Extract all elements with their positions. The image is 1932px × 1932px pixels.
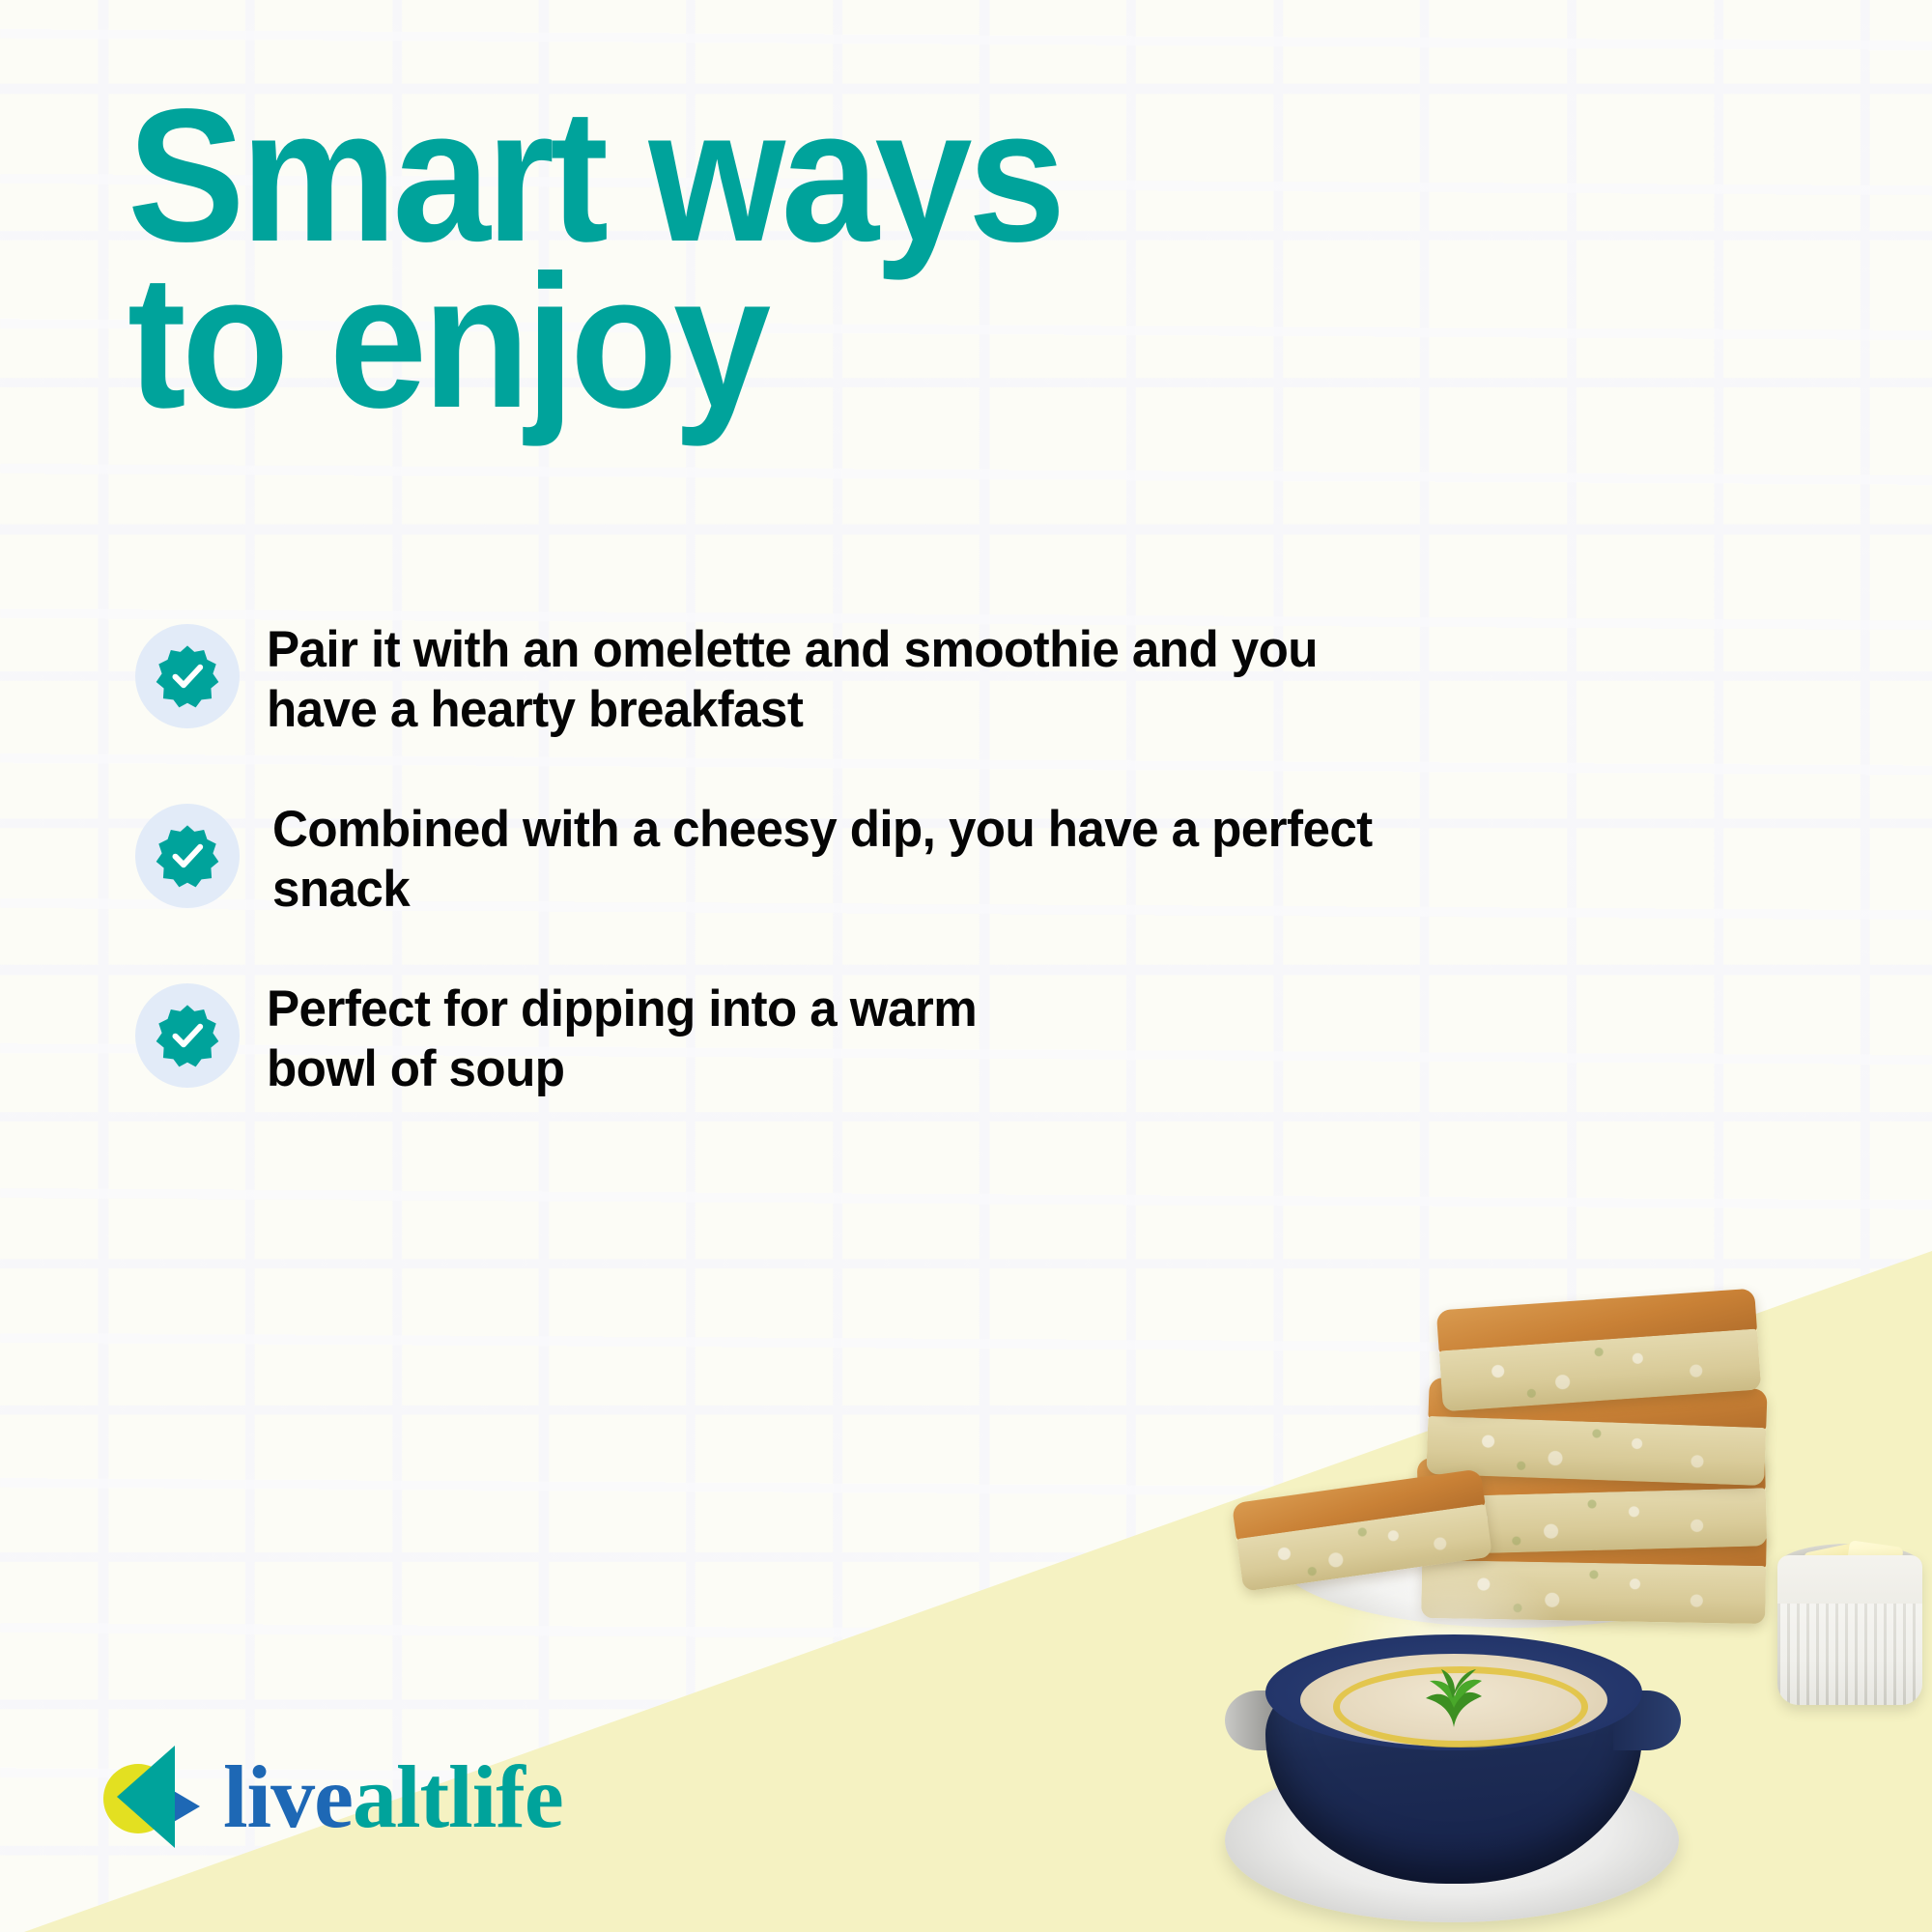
brand-word-live: live [223,1747,353,1846]
list-item: Perfect for dipping into a warm bowl of … [135,978,1681,1099]
verified-check-badge-icon [135,624,240,728]
brand-word-altlife: altlife [353,1747,563,1846]
brand-logo-text: livealtlife [223,1752,563,1841]
butter-ramekin-ridges [1777,1604,1922,1705]
verified-check-badge-icon [135,983,240,1088]
list-item-label: Combined with a cheesy dip, you have a p… [272,798,1632,920]
list-item-label: Perfect for dipping into a warm bowl of … [267,978,1632,1099]
verified-check-badge-icon [135,804,240,908]
page-title: Smart ways to enjoy [128,93,1206,426]
brand-logo[interactable]: livealtlife [99,1734,563,1860]
benefits-list: Pair it with an omelette and smoothie an… [135,618,1681,1157]
parsley-garnish-icon [1401,1669,1507,1729]
list-item: Pair it with an omelette and smoothie an… [135,618,1681,740]
food-photo [1111,1236,1932,1932]
livealtlife-play-mark-icon [99,1744,208,1850]
list-item-label: Pair it with an omelette and smoothie an… [267,618,1632,740]
poster-canvas: Smart ways to enjoy Pair it with an omel… [0,0,1932,1932]
list-item: Combined with a cheesy dip, you have a p… [135,798,1681,920]
